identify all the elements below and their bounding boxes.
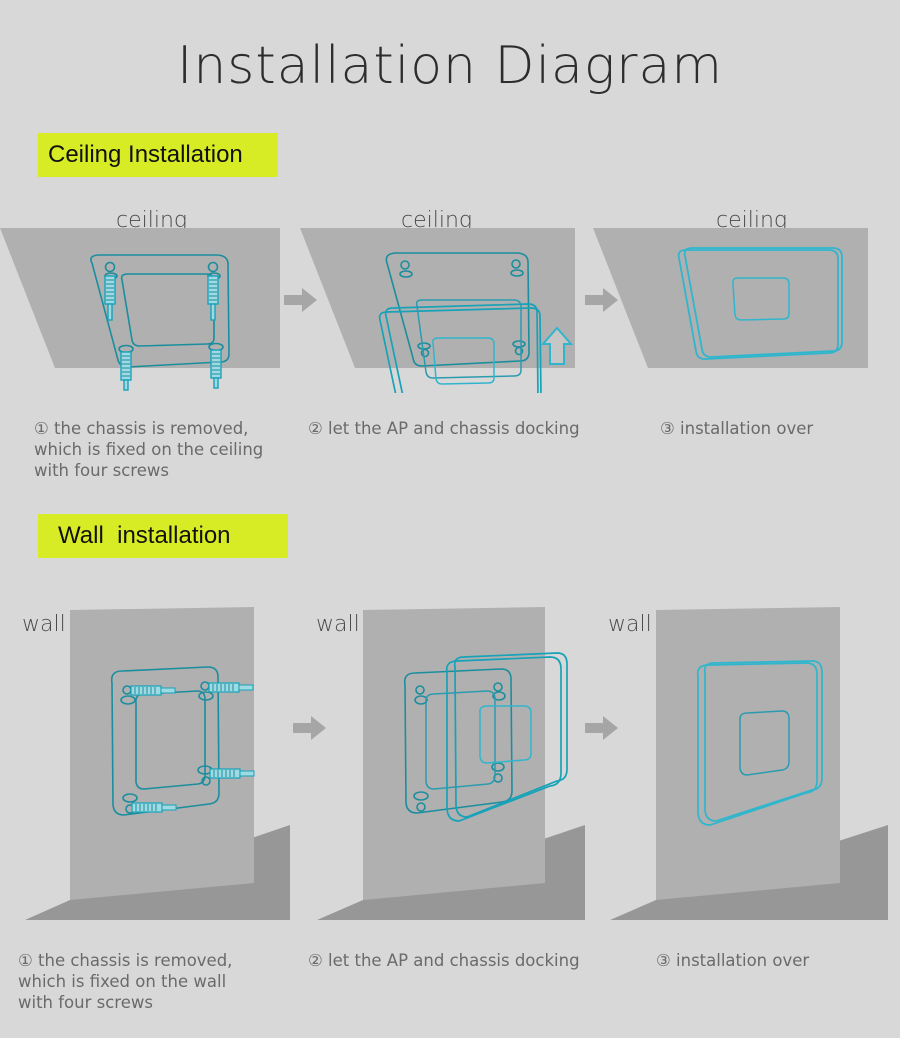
caption-wall-step-1: ① the chassis is removed, which is fixed… (18, 950, 288, 1013)
page-title: Installation Diagram (0, 36, 900, 96)
caption-wall-step-3: ③ installation over (656, 950, 886, 971)
section-banner-wall: Wall installation (38, 514, 288, 558)
caption-ceiling-step-2: ② let the AP and chassis docking (308, 418, 588, 439)
section-banner-ceiling: Ceiling Installation (38, 133, 278, 177)
ceiling-step-2-illustration (300, 228, 590, 393)
ceiling-step-1-illustration (0, 228, 290, 393)
ceiling-step-3-illustration (593, 228, 883, 393)
wall-step-1-illustration (0, 595, 300, 925)
caption-ceiling-step-1: ① the chassis is removed, which is fixed… (34, 418, 304, 481)
wall-step-3-illustration (588, 595, 900, 925)
wall-surface-shape (70, 607, 254, 900)
caption-wall-step-2: ② let the AP and chassis docking (308, 950, 588, 971)
caption-ceiling-step-3: ③ installation over (660, 418, 890, 439)
ceiling-surface-shape (0, 228, 280, 368)
ceiling-surface-shape (300, 228, 575, 368)
wall-surface-shape (656, 607, 840, 900)
wall-surface-shape (363, 607, 545, 900)
ceiling-surface-shape (593, 228, 868, 368)
installation-diagram-page: Installation Diagram Ceiling Installatio… (0, 0, 900, 1038)
screw-icon (121, 352, 131, 390)
screw-icon (211, 350, 221, 388)
wall-step-2-illustration (295, 595, 595, 925)
